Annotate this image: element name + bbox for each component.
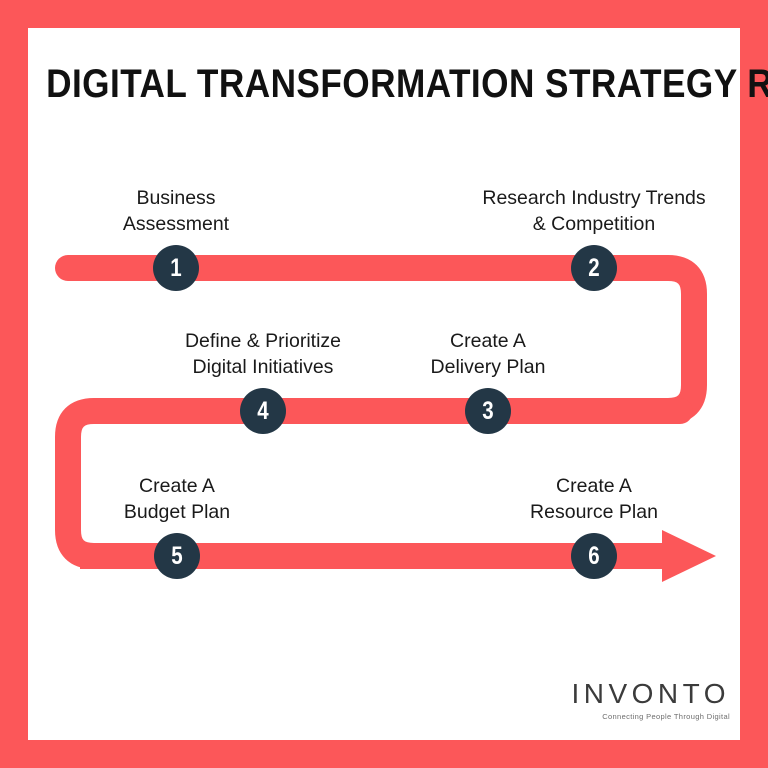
brand-logo: INVONTO Connecting People Through Digita… [571,680,730,721]
step-label-6: Create A Resource Plan [494,473,694,525]
infographic-poster: DIGITAL TRANSFORMATION STRATEGY ROADMAP … [0,0,768,768]
step-node-2[interactable]: 2 [571,245,617,291]
logo-tagline: Connecting People Through Digital [571,713,730,721]
step-number-2: 2 [588,256,599,281]
step-node-4[interactable]: 4 [240,388,286,434]
step-label-2: Research Industry Trends & Competition [454,185,734,237]
step-node-1[interactable]: 1 [153,245,199,291]
logo-wordmark: INVONTO [571,680,730,708]
step-label-5: Create A Budget Plan [87,473,267,525]
step-node-5[interactable]: 5 [154,533,200,579]
roadmap-path [0,0,768,768]
step-number-5: 5 [171,544,182,569]
step-number-4: 4 [257,399,268,424]
step-node-6[interactable]: 6 [571,533,617,579]
arrow-head-icon [662,530,716,582]
step-number-1: 1 [170,256,181,281]
step-label-1: Business Assessment [86,185,266,237]
step-number-6: 6 [588,544,599,569]
step-number-3: 3 [482,399,493,424]
step-node-3[interactable]: 3 [465,388,511,434]
step-label-4: Define & Prioritize Digital Initiatives [153,328,373,380]
step-label-3: Create A Delivery Plan [398,328,578,380]
